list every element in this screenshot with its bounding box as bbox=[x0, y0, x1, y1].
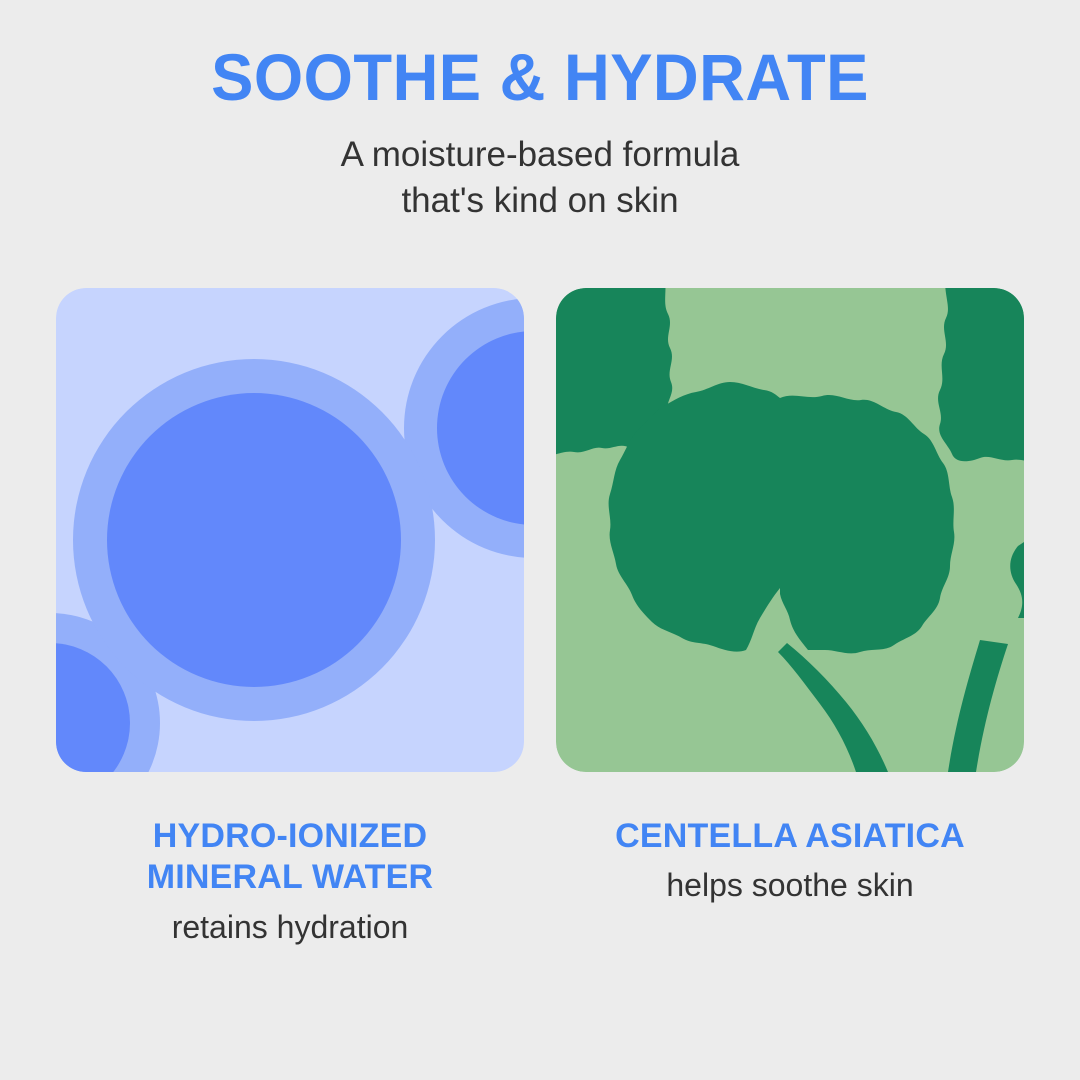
caption-centella-title: CENTELLA ASIATICA bbox=[556, 816, 1024, 857]
caption-water-subtitle: retains hydration bbox=[56, 899, 524, 947]
header: SOOTHE & HYDRATE A moisture-based formul… bbox=[0, 0, 1080, 223]
water-circle-main-core bbox=[107, 393, 401, 687]
caption-water: HYDRO-IONIZED MINERAL WATER retains hydr… bbox=[56, 816, 524, 947]
caption-water-title-line-2: MINERAL WATER bbox=[56, 857, 524, 898]
page-subtitle-line-1: A moisture-based formula bbox=[0, 132, 1080, 178]
caption-centella-title-line-1: CENTELLA ASIATICA bbox=[556, 816, 1024, 857]
ingredient-card-centella[interactable] bbox=[556, 288, 1024, 772]
caption-water-title: HYDRO-IONIZED MINERAL WATER bbox=[56, 816, 524, 899]
page-title: SOOTHE & HYDRATE bbox=[22, 0, 1059, 110]
infographic-poster: SOOTHE & HYDRATE A moisture-based formul… bbox=[0, 0, 1080, 1080]
page-subtitle: A moisture-based formula that's kind on … bbox=[0, 110, 1080, 223]
caption-centella: CENTELLA ASIATICA helps soothe skin bbox=[556, 816, 1024, 947]
ingredient-card-water[interactable] bbox=[56, 288, 524, 772]
centella-leaf-illustration bbox=[556, 288, 1024, 772]
ingredient-card-row bbox=[56, 288, 1024, 772]
caption-water-title-line-1: HYDRO-IONIZED bbox=[56, 816, 524, 857]
water-droplet-circles-illustration bbox=[56, 288, 524, 772]
page-subtitle-line-2: that's kind on skin bbox=[0, 178, 1080, 224]
centella-leaf-topright bbox=[938, 288, 1024, 463]
caption-row: HYDRO-IONIZED MINERAL WATER retains hydr… bbox=[56, 816, 1024, 947]
caption-centella-subtitle: helps soothe skin bbox=[556, 857, 1024, 905]
